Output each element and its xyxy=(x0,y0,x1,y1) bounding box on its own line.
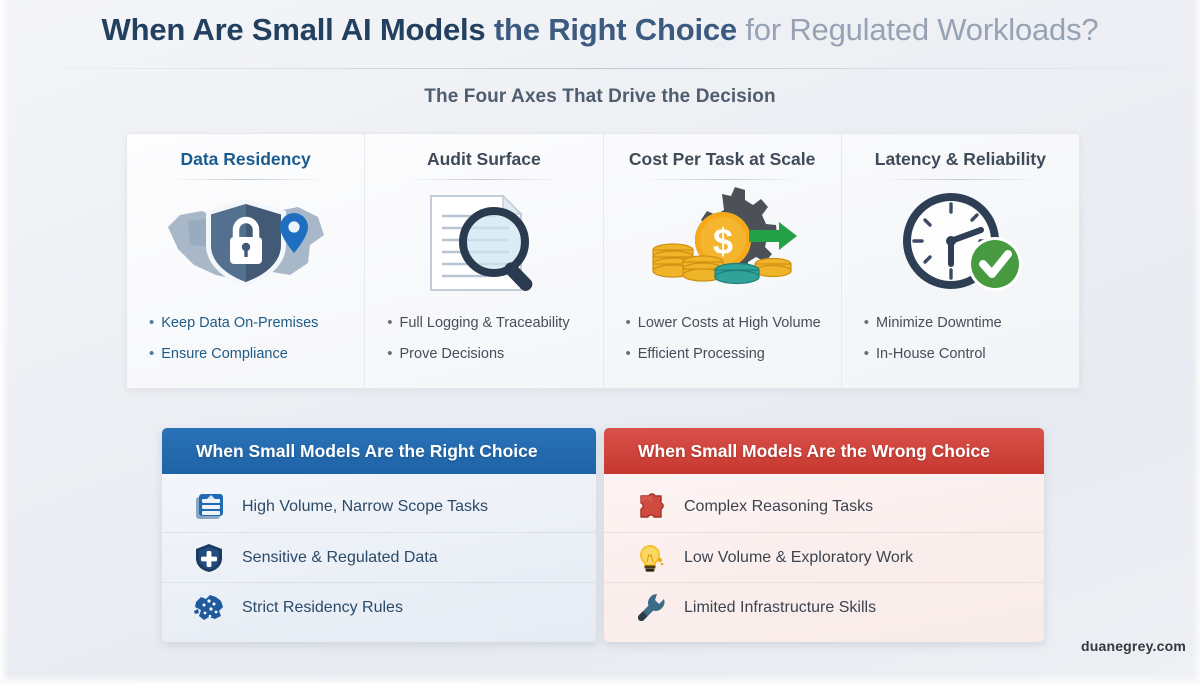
title-segment-secondary: the Right Choice xyxy=(494,12,746,47)
panel-wrong-choice-body: Complex Reasoning Tasks xyxy=(604,474,1044,642)
page-title: When Are Small AI Models the Right Choic… xyxy=(0,12,1200,48)
bullet-dot-icon: • xyxy=(387,316,392,330)
axis-title: Audit Surface xyxy=(375,148,592,170)
axis-bullet: •Lower Costs at High Volume xyxy=(614,308,831,339)
panel-right-choice-heading: When Small Models Are the Right Choice xyxy=(162,428,596,474)
bullet-dot-icon: • xyxy=(864,347,869,361)
axis-bullet: •Keep Data On-Premises xyxy=(137,308,354,339)
axis-bullet-label: Lower Costs at High Volume xyxy=(638,314,821,333)
axis-bullets: •Full Logging & Traceability •Prove Deci… xyxy=(375,308,592,370)
list-item-label: Strict Residency Rules xyxy=(242,599,403,617)
axis-bullet-label: Keep Data On-Premises xyxy=(161,314,318,333)
axis-card-audit-surface[interactable]: Audit Surface xyxy=(364,134,602,388)
axis-bullet: •Ensure Compliance xyxy=(137,339,354,370)
lightbulb-icon xyxy=(634,541,668,575)
page-subtitle: The Four Axes That Drive the Decision xyxy=(0,86,1200,108)
axis-title: Data Residency xyxy=(137,148,354,170)
axis-bullet-label: Prove Decisions xyxy=(400,345,505,364)
list-item-label: High Volume, Narrow Scope Tasks xyxy=(242,498,488,516)
axis-bullet-label: Ensure Compliance xyxy=(161,345,288,364)
infographic-canvas: When Are Small AI Models the Right Choic… xyxy=(0,0,1200,684)
clock-check-icon xyxy=(852,180,1069,306)
axis-bullet-label: Full Logging & Traceability xyxy=(400,314,570,333)
axis-card-data-residency[interactable]: Data Residency xyxy=(127,134,364,388)
panel-wrong-choice-heading: When Small Models Are the Wrong Choice xyxy=(604,428,1044,474)
left-edge-vignette xyxy=(0,0,10,684)
list-item-label: Low Volume & Exploratory Work xyxy=(684,549,913,567)
list-item-label: Limited Infrastructure Skills xyxy=(684,599,876,617)
list-item[interactable]: Limited Infrastructure Skills xyxy=(604,582,1044,632)
list-item[interactable]: Sensitive & Regulated Data xyxy=(162,532,596,582)
list-item[interactable]: Low Volume & Exploratory Work xyxy=(604,532,1044,582)
title-segment-tertiary: for Regulated Workloads? xyxy=(745,12,1098,47)
wrench-icon xyxy=(634,591,668,625)
axis-bullets: •Keep Data On-Premises •Ensure Complianc… xyxy=(137,308,354,370)
bullet-dot-icon: • xyxy=(149,316,154,330)
axis-bullets: •Minimize Downtime •In-House Control xyxy=(852,308,1069,370)
list-item[interactable]: Strict Residency Rules xyxy=(162,582,596,632)
header-divider xyxy=(0,68,1200,69)
gear-dollar-coins-icon: $ xyxy=(614,180,831,306)
shield-lock-us-map-icon xyxy=(137,180,354,306)
shield-plus-icon xyxy=(192,541,226,575)
bullet-dot-icon: • xyxy=(626,347,631,361)
europe-map-stars-icon xyxy=(192,591,226,625)
axis-card-latency-reliability[interactable]: Latency & Reliability xyxy=(841,134,1079,388)
bullet-dot-icon: • xyxy=(387,347,392,361)
four-axes-strip: Data Residency xyxy=(126,133,1080,389)
panel-right-choice-body: High Volume, Narrow Scope Tasks Sensitiv… xyxy=(162,474,596,642)
document-magnifier-icon xyxy=(375,180,592,306)
bottom-edge-vignette xyxy=(0,674,1200,684)
list-item[interactable]: Complex Reasoning Tasks xyxy=(604,482,1044,532)
axis-bullet-label: In-House Control xyxy=(876,345,986,364)
list-item-label: Sensitive & Regulated Data xyxy=(242,549,438,567)
axis-bullet: •In-House Control xyxy=(852,339,1069,370)
stacked-layers-icon xyxy=(192,490,226,524)
bullet-dot-icon: • xyxy=(864,316,869,330)
right-edge-vignette xyxy=(1192,0,1200,684)
axis-bullet: •Full Logging & Traceability xyxy=(375,308,592,339)
svg-text:$: $ xyxy=(713,221,733,262)
axis-card-cost-per-task[interactable]: Cost Per Task at Scale $ xyxy=(603,134,841,388)
panel-right-choice: When Small Models Are the Right Choice H… xyxy=(162,428,596,642)
bullet-dot-icon: • xyxy=(149,347,154,361)
axis-title: Cost Per Task at Scale xyxy=(614,148,831,170)
axis-bullet: •Minimize Downtime xyxy=(852,308,1069,339)
list-item[interactable]: High Volume, Narrow Scope Tasks xyxy=(162,482,596,532)
watermark: duanegrey.com xyxy=(1081,638,1186,654)
axis-bullet-label: Minimize Downtime xyxy=(876,314,1002,333)
puzzle-piece-icon xyxy=(634,490,668,524)
panel-wrong-choice: When Small Models Are the Wrong Choice C… xyxy=(604,428,1044,642)
axis-bullet-label: Efficient Processing xyxy=(638,345,765,364)
axis-bullet: •Prove Decisions xyxy=(375,339,592,370)
list-item-label: Complex Reasoning Tasks xyxy=(684,498,873,516)
axis-title: Latency & Reliability xyxy=(852,148,1069,170)
bullet-dot-icon: • xyxy=(626,316,631,330)
axis-bullets: •Lower Costs at High Volume •Efficient P… xyxy=(614,308,831,370)
axis-bullet: •Efficient Processing xyxy=(614,339,831,370)
title-segment-primary: When Are Small AI Models xyxy=(102,12,494,47)
